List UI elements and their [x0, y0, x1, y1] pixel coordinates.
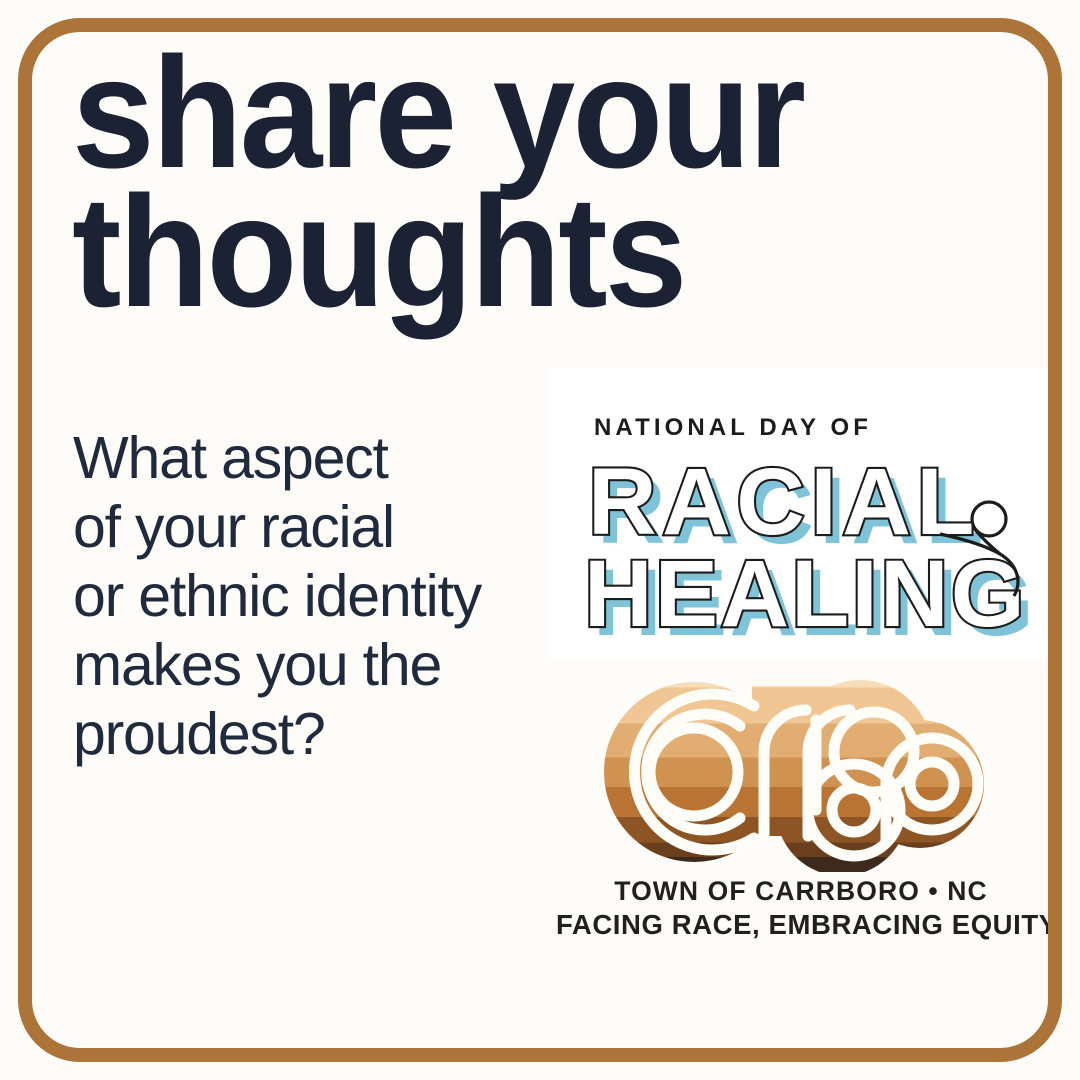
question-line-2: of your racial [73, 493, 573, 562]
headline-line-1: share your [72, 44, 899, 183]
racial-healing-eyebrow: NATIONAL DAY OF [594, 414, 872, 441]
question-line-5: proudest? [73, 700, 573, 769]
carrboro-tagline: TOWN OF CARRBORO • NC FACING RACE, EMBRA… [556, 875, 1046, 942]
carrboro-wordmark-icon [602, 660, 1006, 872]
racial-word: RACIAL [588, 449, 980, 555]
question-line-4: makes you the [73, 631, 573, 700]
carrboro-logo-block: TOWN OF CARRBORO • NC FACING RACE, EMBRA… [556, 660, 1046, 950]
healing-word: HEALING [584, 541, 1027, 647]
headline-line-2: thoughts [72, 183, 899, 322]
question-line-3: or ethnic identity [73, 562, 573, 631]
prompt-question: What aspect of your racial or ethnic ide… [73, 424, 573, 769]
carrboro-tagline-line-2: FACING RACE, EMBRACING EQUITY [556, 908, 1046, 942]
page-title: share your thoughts [72, 44, 899, 322]
poster-canvas: share your thoughts What aspect of your … [0, 0, 1080, 1080]
racial-healing-logo: NATIONAL DAY OF RACIAL RACIAL HEALING HE… [548, 368, 1048, 659]
carrboro-tagline-line-1: TOWN OF CARRBORO • NC [556, 875, 1046, 908]
question-line-1: What aspect [73, 424, 573, 493]
